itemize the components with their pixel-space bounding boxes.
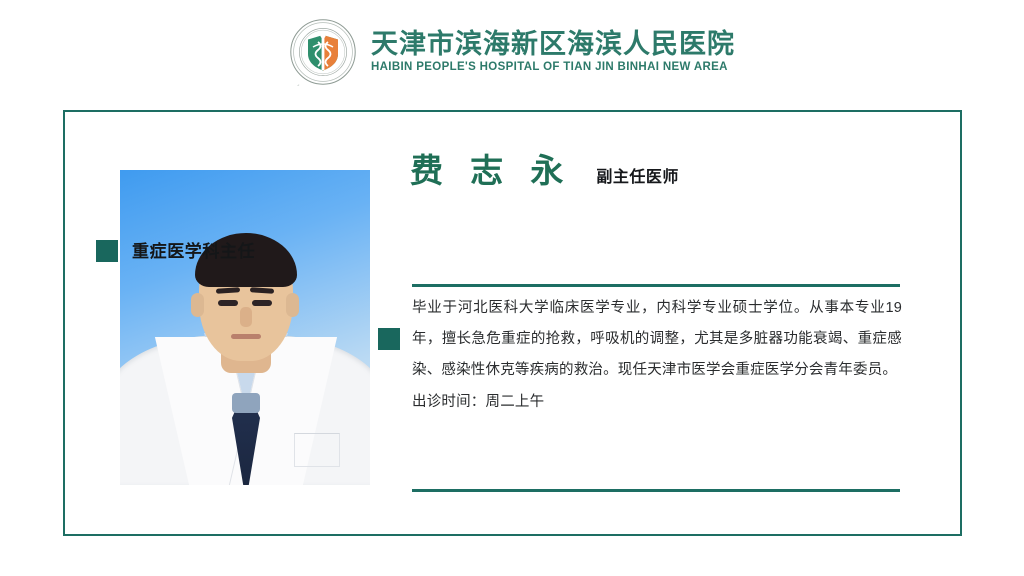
hospital-name-block: 天津市滨海新区海滨人民医院 HAIBIN PEOPLE'S HOSPITAL O… [371,30,735,74]
accent-square-icon [96,240,118,262]
department-title-row: 重症医学科主任 [96,240,255,262]
doctor-info-column: 费 志 永 副主任医师 [410,154,910,198]
hospital-name-english: HAIBIN PEOPLE'S HOSPITAL OF TIAN JIN BIN… [371,61,735,74]
doctor-portrait-photo [120,170,370,485]
hospital-name-chinese: 天津市滨海新区海滨人民医院 [371,30,735,58]
clinic-hours: 出诊时间：周二上午 [412,387,902,418]
doctor-rank-title: 副主任医师 [596,170,679,186]
biography-paragraph: 毕业于河北医科大学临床医学专业，内科学专业硕士学位。从事本专业19年，擅长急危重… [412,293,902,387]
slide-root: 天津市滨海新区海滨人民医院 HAIBIN PEOPLE'S HOSPITAL O… [0,0,1024,576]
hospital-header: 天津市滨海新区海滨人民医院 HAIBIN PEOPLE'S HOSPITAL O… [0,14,1024,90]
department-underline-divider [412,284,900,287]
accent-square-secondary-icon [378,328,400,350]
doctor-profile-card: 费 志 永 副主任医师 重症医学科主任 毕业于河北医科大学临床医学专业，内科学专… [63,110,962,536]
doctor-name: 费 志 永 [410,154,572,187]
bottom-divider [412,489,900,492]
doctor-name-row: 费 志 永 副主任医师 [410,154,910,198]
department-title: 重症医学科主任 [132,243,255,260]
doctor-biography: 毕业于河北医科大学临床医学专业，内科学专业硕士学位。从事本专业19年，擅长急危重… [412,293,902,418]
hospital-logo-icon: 天津市滨海新区海滨人民医院 HAIBIN PEOPLE'S HOSPITAL O… [289,18,357,86]
